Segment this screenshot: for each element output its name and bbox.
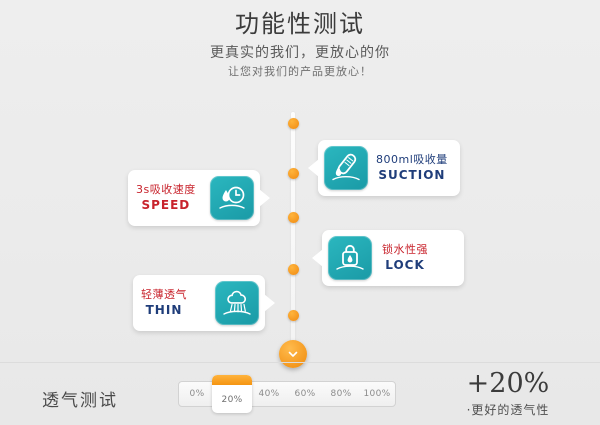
section-divider — [0, 362, 600, 363]
header-subtitle-primary: 更真实的我们，更放心的你 — [0, 43, 600, 63]
breathability-test-label: 透气测试 — [42, 386, 118, 411]
scale-selected-marker[interactable]: 20% — [212, 375, 252, 413]
breathable-cloud-icon — [215, 281, 259, 325]
card-tail — [312, 249, 323, 267]
timeline-dot — [288, 264, 299, 275]
scale-tick[interactable]: 80% — [323, 382, 359, 406]
infographic-canvas: 功能性测试 更真实的我们，更放心的你 让您对我们的产品更放心！ 3s吸收速度 S… — [0, 0, 600, 425]
scale-tick[interactable]: 40% — [251, 382, 287, 406]
scale-track: 0% 40% 60% 80% 100% — [178, 381, 396, 407]
test-tube-icon — [324, 146, 368, 190]
result-caption: ·更好的透气性 — [438, 401, 578, 418]
feature-card-speed[interactable]: 3s吸收速度 SPEED — [128, 170, 260, 226]
breathability-scale[interactable]: 0% 40% 60% 80% 100% 20% — [178, 381, 396, 407]
feature-card-text: 3s吸收速度 SPEED — [136, 183, 196, 213]
timeline-dot — [288, 212, 299, 223]
feature-label-en: THIN — [146, 303, 183, 318]
feature-label-cn: 轻薄透气 — [141, 288, 187, 302]
card-tail — [264, 294, 275, 312]
feature-label-en: SUCTION — [378, 168, 445, 183]
feature-card-text: 锁水性强 LOCK — [382, 243, 428, 273]
result-block: +20% ·更好的透气性 — [438, 368, 578, 418]
chevron-down-icon[interactable] — [279, 340, 307, 368]
marker-cap — [212, 375, 252, 385]
feature-card-text: 轻薄透气 THIN — [141, 288, 187, 318]
feature-label-cn: 3s吸收速度 — [136, 183, 196, 197]
timeline-dot — [288, 118, 299, 129]
feature-label-cn: 锁水性强 — [382, 243, 428, 257]
feature-card-text: 800ml吸收量 SUCTION — [376, 153, 448, 183]
scale-tick[interactable]: 0% — [179, 382, 215, 406]
card-tail — [259, 189, 270, 207]
marker-value: 20% — [222, 395, 243, 413]
feature-card-thin[interactable]: 轻薄透气 THIN — [133, 275, 265, 331]
header: 功能性测试 更真实的我们，更放心的你 让您对我们的产品更放心！ — [0, 8, 600, 81]
feature-label-cn: 800ml吸收量 — [376, 153, 448, 167]
timeline-dot — [288, 310, 299, 321]
droplet-clock-icon — [210, 176, 254, 220]
feature-label-en: SPEED — [141, 198, 190, 213]
scale-tick[interactable]: 100% — [359, 382, 395, 406]
page-title: 功能性测试 — [0, 8, 600, 40]
header-subtitle-secondary: 让您对我们的产品更放心！ — [0, 63, 600, 81]
timeline-track — [291, 112, 295, 352]
feature-card-suction[interactable]: 800ml吸收量 SUCTION — [318, 140, 460, 196]
scale-tick[interactable]: 60% — [287, 382, 323, 406]
feature-card-lock[interactable]: 锁水性强 LOCK — [322, 230, 464, 286]
timeline-dot — [288, 168, 299, 179]
feature-label-en: LOCK — [385, 258, 425, 273]
card-tail — [308, 159, 319, 177]
padlock-droplet-icon — [328, 236, 372, 280]
result-value: +20% — [438, 368, 578, 400]
